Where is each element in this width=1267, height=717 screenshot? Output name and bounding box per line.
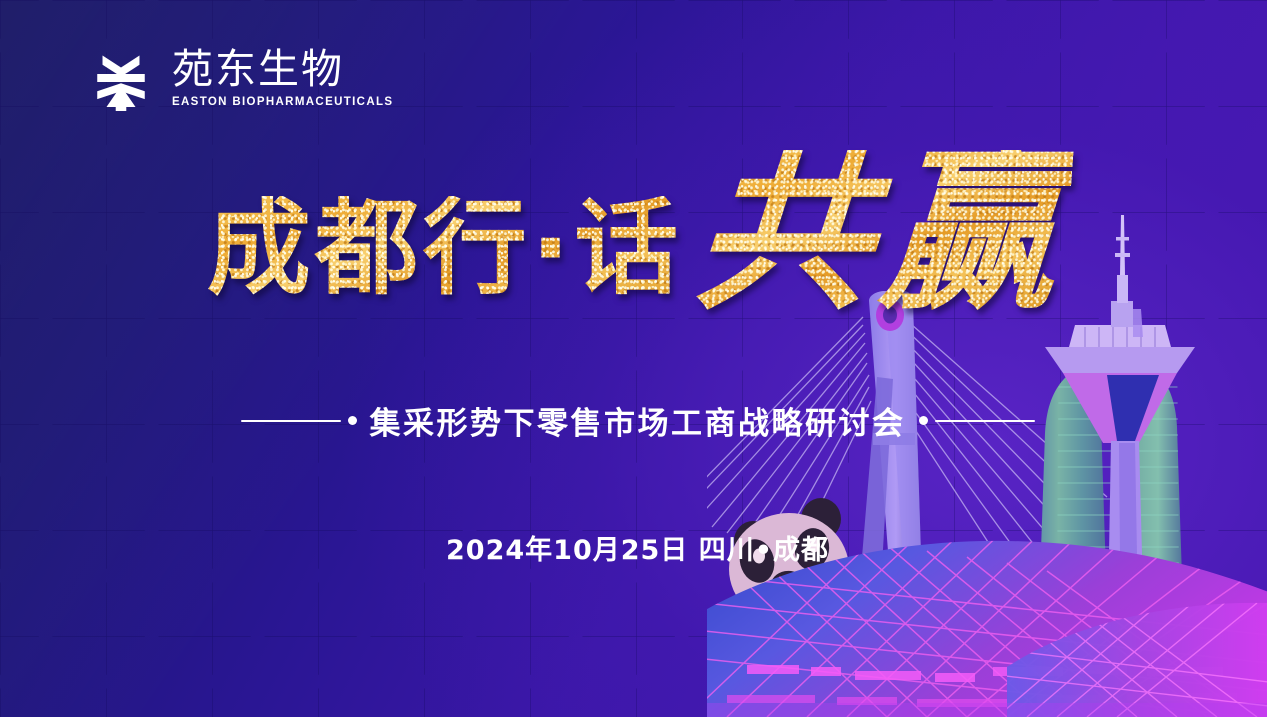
rule-dot-right [919,416,928,425]
rule-dot-left [348,416,357,425]
company-name-cn: 苑东生物 [172,48,393,91]
subtitle-rule-right [919,416,1035,425]
title-part-calligraphy: 共赢 [691,150,1074,312]
lattice-dome [997,597,1267,717]
rule-bar-right [935,420,1035,422]
bridge-pylon [857,291,923,617]
main-title: 成都行·话 共赢 [0,150,1267,312]
subtitle-text: 集采形势下零售市场工商战略研讨会 [370,398,906,443]
title-part-regular: 成都行·话 [207,196,683,312]
company-logo[interactable]: 苑东生物 EASTON BIOPHARMACEUTICALS [88,45,393,111]
company-name-en: EASTON BIOPHARMACEUTICALS [172,96,393,108]
logo-text-block: 苑东生物 EASTON BIOPHARMACEUTICALS [172,48,393,108]
easton-logo-icon [88,45,154,111]
date-location-text: 2024年10月25日 四川•成都 [0,528,1267,567]
rule-bar-left [241,420,341,422]
subtitle-rule-left [241,416,357,425]
subtitle-row: 集采形势下零售市场工商战略研讨会 [0,398,1267,443]
panda-mascot [725,498,911,667]
title-line: 成都行·话 共赢 [207,150,1069,312]
dome-window-bars [727,665,1237,707]
event-banner: 苑东生物 EASTON BIOPHARMACEUTICALS 成都行·话 共赢 … [0,0,1267,717]
